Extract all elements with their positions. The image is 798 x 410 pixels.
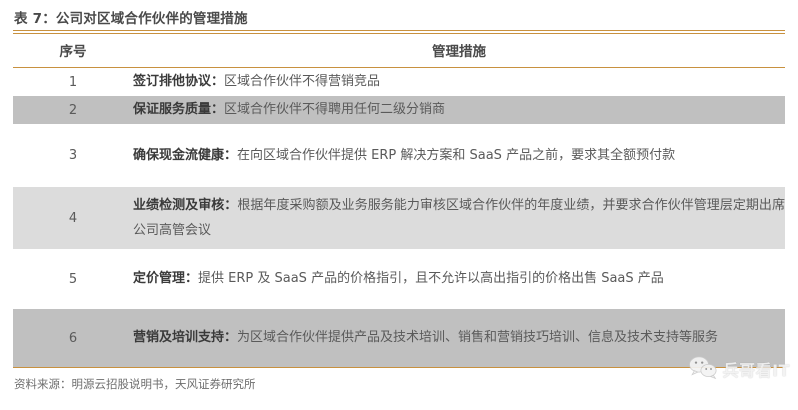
source-note: 资料来源：明源云招股说明书，天风证券研究所 [0, 368, 798, 392]
row-number: 1 [13, 68, 133, 96]
table-row: 2 保证服务质量：区域合作伙伴不得聘用任何二级分销商 [13, 96, 785, 124]
row-measure: 营销及培训支持：为区域合作伙伴提供产品及技术培训、销售和营销技巧培训、信息及技术… [133, 309, 785, 367]
management-measures-table: 序号 管理措施 [13, 34, 785, 67]
measure-lead: 营销及培训支持： [133, 330, 237, 345]
measure-lead: 业绩检测及审核： [133, 198, 237, 213]
column-header-measure: 管理措施 [133, 34, 785, 67]
measure-lead: 定价管理： [133, 271, 198, 286]
row-measure: 保证服务质量：区域合作伙伴不得聘用任何二级分销商 [133, 96, 785, 124]
measure-body: 在向区域合作伙伴提供 ERP 解决方案和 SaaS 产品之前，要求其全额预付款 [237, 148, 675, 163]
table-header-row: 序号 管理措施 [13, 34, 785, 67]
row-number: 3 [13, 124, 133, 187]
table-row: 3 确保现金流健康：在向区域合作伙伴提供 ERP 解决方案和 SaaS 产品之前… [13, 124, 785, 187]
row-number: 2 [13, 96, 133, 124]
row-number: 6 [13, 309, 133, 367]
row-measure: 定价管理：提供 ERP 及 SaaS 产品的价格指引，且不允许以高出指引的价格出… [133, 249, 785, 309]
measure-body: 提供 ERP 及 SaaS 产品的价格指引，且不允许以高出指引的价格出售 Saa… [198, 271, 664, 286]
measure-lead: 保证服务质量： [133, 102, 224, 117]
table-header: 序号 管理措施 [13, 34, 785, 67]
measure-lead: 签订排他协议： [133, 74, 224, 89]
figure-container: 表 7：公司对区域合作伙伴的管理措施 序号 管理措施 1 签订排他协议：区域合作… [0, 0, 798, 410]
row-number: 4 [13, 187, 133, 249]
measure-body: 区域合作伙伴不得聘用任何二级分销商 [224, 102, 445, 117]
row-measure: 确保现金流健康：在向区域合作伙伴提供 ERP 解决方案和 SaaS 产品之前，要… [133, 124, 785, 187]
row-number: 5 [13, 249, 133, 309]
table-row: 5 定价管理：提供 ERP 及 SaaS 产品的价格指引，且不允许以高出指引的价… [13, 249, 785, 309]
column-header-number: 序号 [13, 34, 133, 67]
measure-body: 为区域合作伙伴提供产品及技术培训、销售和营销技巧培训、信息及技术支持等服务 [237, 330, 718, 345]
table-row: 6 营销及培训支持：为区域合作伙伴提供产品及技术培训、销售和营销技巧培训、信息及… [13, 309, 785, 367]
figure-title: 表 7：公司对区域合作伙伴的管理措施 [0, 0, 798, 30]
row-measure: 签订排他协议：区域合作伙伴不得营销竞品 [133, 68, 785, 96]
management-measures-body: 1 签订排他协议：区域合作伙伴不得营销竞品 2 保证服务质量：区域合作伙伴不得聘… [13, 68, 785, 367]
row-measure: 业绩检测及审核：根据年度采购额及业务服务能力审核区域合作伙伴的年度业绩，并要求合… [133, 187, 785, 249]
measure-lead: 确保现金流健康： [133, 148, 237, 163]
table-row: 1 签订排他协议：区域合作伙伴不得营销竞品 [13, 68, 785, 96]
table-row: 4 业绩检测及审核：根据年度采购额及业务服务能力审核区域合作伙伴的年度业绩，并要… [13, 187, 785, 249]
measure-body: 区域合作伙伴不得营销竞品 [224, 74, 380, 89]
